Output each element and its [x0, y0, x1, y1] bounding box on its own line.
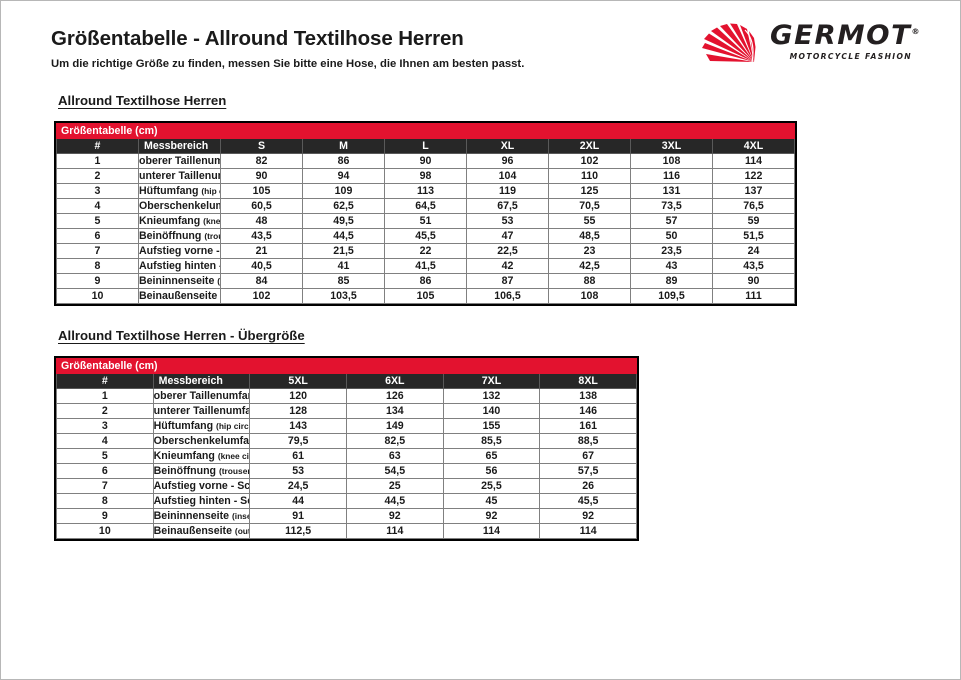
cell-7xl: 65: [443, 449, 540, 464]
cell-l: 98: [385, 169, 467, 184]
cell-6xl: 63: [346, 449, 443, 464]
cell-7xl: 114: [443, 524, 540, 539]
cell-3xl: 89: [631, 274, 713, 289]
section-heading-oversize: Allround Textilhose Herren - Übergröße: [58, 328, 305, 343]
row-measurement-label: unterer Taillenumfang (lower waist circu…: [139, 169, 221, 184]
measurement-label-de: Aufstieg vorne - Schritt zum Bund: [154, 480, 250, 492]
row-number: 4: [57, 199, 139, 214]
row-number: 7: [57, 479, 154, 494]
table-row: 10Beinaußenseite (outseam)102103,5105106…: [57, 289, 795, 304]
cell-4xl: 43,5: [713, 259, 795, 274]
row-number: 7: [57, 244, 139, 259]
table-row: 9Beininnenseite (inseam)84858687888990: [57, 274, 795, 289]
cell-s: 40,5: [221, 259, 303, 274]
measurement-label-de: Knieumfang: [154, 450, 218, 462]
column-header-size-s: S: [221, 139, 303, 154]
cell-xl: 42: [467, 259, 549, 274]
table-header-row: #Messbereich5XL6XL7XL8XL: [57, 374, 637, 389]
table-row: 8Aufstieg hinten - Schritt zum Bund (fro…: [57, 259, 795, 274]
cell-2xl: 23: [549, 244, 631, 259]
cell-xl: 87: [467, 274, 549, 289]
row-number: 2: [57, 169, 139, 184]
table-row: 1oberer Taillenumfang (upper waist circu…: [57, 154, 795, 169]
table-row: 4Oberschenkelumfang (tight circumference…: [57, 434, 637, 449]
section-heading-standard: Allround Textilhose Herren: [58, 93, 226, 108]
cell-8xl: 161: [540, 419, 637, 434]
cell-l: 45,5: [385, 229, 467, 244]
cell-8xl: 26: [540, 479, 637, 494]
cell-2xl: 125: [549, 184, 631, 199]
cell-l: 90: [385, 154, 467, 169]
cell-5xl: 44: [250, 494, 347, 509]
cell-xl: 22,5: [467, 244, 549, 259]
cell-l: 86: [385, 274, 467, 289]
row-number: 6: [57, 464, 154, 479]
cell-2xl: 42,5: [549, 259, 631, 274]
row-measurement-label: Oberschenkelumfang (tight circumference): [153, 434, 250, 449]
cell-5xl: 128: [250, 404, 347, 419]
column-header-size-xl: XL: [467, 139, 549, 154]
column-header-size-7xl: 7XL: [443, 374, 540, 389]
cell-4xl: 114: [713, 154, 795, 169]
cell-3xl: 73,5: [631, 199, 713, 214]
cell-3xl: 116: [631, 169, 713, 184]
measurement-label-de: Hüftumfang: [139, 185, 201, 197]
cell-s: 21: [221, 244, 303, 259]
cell-3xl: 131: [631, 184, 713, 199]
measurement-label-de: Oberschenkelumfang: [139, 200, 221, 212]
cell-3xl: 108: [631, 154, 713, 169]
cell-4xl: 76,5: [713, 199, 795, 214]
cell-6xl: 134: [346, 404, 443, 419]
cell-6xl: 149: [346, 419, 443, 434]
cell-l: 105: [385, 289, 467, 304]
table-row: 4Oberschenkelumfang (tight circumference…: [57, 199, 795, 214]
column-header-size-2xl: 2XL: [549, 139, 631, 154]
measurement-label-en: (hip circumference): [216, 421, 250, 431]
cell-m: 86: [303, 154, 385, 169]
measurement-label-de: Oberschenkelumfang: [154, 435, 250, 447]
table-row: 6Beinöffnung (trouser cuff)43,544,545,54…: [57, 229, 795, 244]
cell-2xl: 55: [549, 214, 631, 229]
table-oversize-body: Größentabelle (cm)#Messbereich5XL6XL7XL8…: [57, 359, 637, 539]
row-number: 4: [57, 434, 154, 449]
row-number: 5: [57, 449, 154, 464]
cell-2xl: 110: [549, 169, 631, 184]
cell-s: 84: [221, 274, 303, 289]
cell-8xl: 67: [540, 449, 637, 464]
column-header-size-5xl: 5XL: [250, 374, 347, 389]
cell-4xl: 111: [713, 289, 795, 304]
column-header-size-l: L: [385, 139, 467, 154]
cell-m: 109: [303, 184, 385, 199]
cell-3xl: 109,5: [631, 289, 713, 304]
cell-4xl: 51,5: [713, 229, 795, 244]
cell-2xl: 70,5: [549, 199, 631, 214]
row-measurement-label: Beinöffnung (trouser cuff): [153, 464, 250, 479]
cell-2xl: 102: [549, 154, 631, 169]
cell-s: 102: [221, 289, 303, 304]
cell-xl: 119: [467, 184, 549, 199]
table-banner-label: Größentabelle (cm): [57, 359, 637, 374]
size-chart-page: Größentabelle - Allround Textilhose Herr…: [0, 0, 961, 680]
cell-4xl: 90: [713, 274, 795, 289]
row-number: 8: [57, 494, 154, 509]
cell-4xl: 137: [713, 184, 795, 199]
germot-fan-icon: [698, 21, 766, 67]
row-number: 9: [57, 274, 139, 289]
row-measurement-label: Knieumfang (knee circumference): [139, 214, 221, 229]
measurement-label-de: Hüftumfang: [154, 420, 216, 432]
measurement-label-en: (trouser cuff): [219, 466, 250, 476]
measurement-label-de: oberer Taillenumfang: [154, 390, 250, 402]
row-measurement-label: oberer Taillenumfang (upper waist circum…: [153, 389, 250, 404]
measurement-label-de: Aufstieg hinten - Schritt zum Bund: [154, 495, 250, 507]
cell-s: 105: [221, 184, 303, 199]
measurement-label-de: Beinöffnung: [139, 230, 204, 242]
cell-4xl: 59: [713, 214, 795, 229]
measurement-label-de: Aufstieg hinten - Schritt zum Bund: [139, 260, 221, 272]
cell-7xl: 155: [443, 419, 540, 434]
cell-4xl: 24: [713, 244, 795, 259]
row-measurement-label: Beinaußenseite (outseam): [153, 524, 250, 539]
cell-xl: 104: [467, 169, 549, 184]
measurement-label-de: Beininnenseite: [154, 510, 232, 522]
cell-8xl: 138: [540, 389, 637, 404]
table-banner-label: Größentabelle (cm): [57, 124, 795, 139]
cell-l: 41,5: [385, 259, 467, 274]
cell-l: 51: [385, 214, 467, 229]
cell-8xl: 92: [540, 509, 637, 524]
cell-m: 21,5: [303, 244, 385, 259]
brand-name: GERMOT®: [770, 22, 921, 49]
table-row: 8Aufstieg hinten - Schritt zum Bund (fro…: [57, 494, 637, 509]
brand-tagline: MOTORCYCLE FASHION: [770, 52, 918, 61]
cell-m: 103,5: [303, 289, 385, 304]
table-row: 1oberer Taillenumfang (upper waist circu…: [57, 389, 637, 404]
cell-6xl: 44,5: [346, 494, 443, 509]
row-measurement-label: Beinöffnung (trouser cuff): [139, 229, 221, 244]
size-table-oversize-grid: Größentabelle (cm)#Messbereich5XL6XL7XL8…: [56, 358, 637, 539]
germot-logo: GERMOT® MOTORCYCLE FASHION: [696, 19, 918, 71]
cell-8xl: 146: [540, 404, 637, 419]
table-banner-row: Größentabelle (cm): [57, 359, 637, 374]
table-standard-body: Größentabelle (cm)#MessbereichSMLXL2XL3X…: [57, 124, 795, 304]
measurement-label-en: (outseam): [235, 526, 250, 536]
cell-5xl: 112,5: [250, 524, 347, 539]
row-measurement-label: oberer Taillenumfang (upper waist circum…: [139, 154, 221, 169]
cell-l: 64,5: [385, 199, 467, 214]
measurement-label-de: Beinöffnung: [154, 465, 219, 477]
row-number: 1: [57, 389, 154, 404]
cell-4xl: 122: [713, 169, 795, 184]
row-number: 1: [57, 154, 139, 169]
measurement-label-de: oberer Taillenumfang: [139, 155, 221, 167]
measurement-label-en: (hip circumference): [201, 186, 220, 196]
row-number: 10: [57, 524, 154, 539]
cell-s: 48: [221, 214, 303, 229]
measurement-label-de: Aufstieg vorne - Schritt zum Bund: [139, 245, 221, 257]
table-row: 7Aufstieg vorne - Schritt zum Bund (fron…: [57, 244, 795, 259]
cell-xl: 96: [467, 154, 549, 169]
cell-8xl: 88,5: [540, 434, 637, 449]
table-row: 3Hüftumfang (hip circumference)105109113…: [57, 184, 795, 199]
cell-5xl: 53: [250, 464, 347, 479]
measurement-label-de: unterer Taillenumfang: [139, 170, 221, 182]
cell-3xl: 23,5: [631, 244, 713, 259]
cell-3xl: 50: [631, 229, 713, 244]
cell-8xl: 57,5: [540, 464, 637, 479]
table-row: 2unterer Taillenumfang (lower waist circ…: [57, 404, 637, 419]
row-measurement-label: Hüftumfang (hip circumference): [153, 419, 250, 434]
row-measurement-label: Beinaußenseite (outseam): [139, 289, 221, 304]
column-header-number: #: [57, 374, 154, 389]
table-row: 10Beinaußenseite (outseam)112,5114114114: [57, 524, 637, 539]
column-header-size-m: M: [303, 139, 385, 154]
row-measurement-label: Aufstieg hinten - Schritt zum Bund (fron…: [139, 259, 221, 274]
cell-7xl: 140: [443, 404, 540, 419]
cell-7xl: 92: [443, 509, 540, 524]
measurement-label-en: (trouser cuff): [204, 231, 220, 241]
row-number: 5: [57, 214, 139, 229]
cell-2xl: 48,5: [549, 229, 631, 244]
cell-6xl: 114: [346, 524, 443, 539]
measurement-label-de: Beininnenseite: [139, 275, 217, 287]
row-number: 3: [57, 419, 154, 434]
row-number: 6: [57, 229, 139, 244]
size-table-standard: Größentabelle (cm)#MessbereichSMLXL2XL3X…: [54, 121, 797, 306]
cell-6xl: 82,5: [346, 434, 443, 449]
cell-5xl: 143: [250, 419, 347, 434]
cell-5xl: 120: [250, 389, 347, 404]
cell-7xl: 85,5: [443, 434, 540, 449]
cell-2xl: 108: [549, 289, 631, 304]
cell-7xl: 45: [443, 494, 540, 509]
column-header-measurement: Messbereich: [139, 139, 221, 154]
cell-s: 82: [221, 154, 303, 169]
cell-m: 94: [303, 169, 385, 184]
cell-3xl: 57: [631, 214, 713, 229]
row-number: 8: [57, 259, 139, 274]
cell-5xl: 61: [250, 449, 347, 464]
column-header-number: #: [57, 139, 139, 154]
cell-l: 113: [385, 184, 467, 199]
cell-5xl: 24,5: [250, 479, 347, 494]
measurement-label-en: (knee circumference): [218, 451, 250, 461]
measurement-label-de: Beinaußenseite: [154, 525, 235, 537]
cell-5xl: 91: [250, 509, 347, 524]
row-number: 10: [57, 289, 139, 304]
row-measurement-label: Oberschenkelumfang (tight circumference): [139, 199, 221, 214]
cell-m: 85: [303, 274, 385, 289]
cell-8xl: 114: [540, 524, 637, 539]
row-measurement-label: Aufstieg vorne - Schritt zum Bund (front…: [153, 479, 250, 494]
measurement-label-en: (inseam): [232, 511, 250, 521]
row-measurement-label: Knieumfang (knee circumference): [153, 449, 250, 464]
size-table-oversize: Größentabelle (cm)#Messbereich5XL6XL7XL8…: [54, 356, 639, 541]
cell-m: 49,5: [303, 214, 385, 229]
table-row: 5Knieumfang (knee circumference)61636567: [57, 449, 637, 464]
row-measurement-label: Beininnenseite (inseam): [139, 274, 221, 289]
column-header-size-3xl: 3XL: [631, 139, 713, 154]
cell-xl: 53: [467, 214, 549, 229]
row-number: 2: [57, 404, 154, 419]
row-measurement-label: Aufstieg hinten - Schritt zum Bund (fron…: [153, 494, 250, 509]
cell-8xl: 45,5: [540, 494, 637, 509]
row-measurement-label: Hüftumfang (hip circumference): [139, 184, 221, 199]
cell-s: 60,5: [221, 199, 303, 214]
table-row: 7Aufstieg vorne - Schritt zum Bund (fron…: [57, 479, 637, 494]
column-header-size-4xl: 4XL: [713, 139, 795, 154]
column-header-size-6xl: 6XL: [346, 374, 443, 389]
column-header-measurement: Messbereich: [153, 374, 250, 389]
cell-7xl: 25,5: [443, 479, 540, 494]
row-number: 9: [57, 509, 154, 524]
cell-xl: 67,5: [467, 199, 549, 214]
cell-3xl: 43: [631, 259, 713, 274]
measurement-label-de: unterer Taillenumfang: [154, 405, 250, 417]
table-banner-row: Größentabelle (cm): [57, 124, 795, 139]
row-measurement-label: Beininnenseite (inseam): [153, 509, 250, 524]
table-header-row: #MessbereichSMLXL2XL3XL4XL: [57, 139, 795, 154]
table-row: 2unterer Taillenumfang (lower waist circ…: [57, 169, 795, 184]
measurement-label-de: Knieumfang: [139, 215, 203, 227]
size-table-standard-grid: Größentabelle (cm)#MessbereichSMLXL2XL3X…: [56, 123, 795, 304]
registered-mark: ®: [911, 27, 919, 36]
cell-6xl: 92: [346, 509, 443, 524]
germot-wordmark: GERMOT® MOTORCYCLE FASHION: [770, 22, 918, 61]
cell-6xl: 25: [346, 479, 443, 494]
cell-xl: 106,5: [467, 289, 549, 304]
table-row: 6Beinöffnung (trouser cuff)5354,55657,5: [57, 464, 637, 479]
cell-7xl: 132: [443, 389, 540, 404]
row-measurement-label: Aufstieg vorne - Schritt zum Bund (front…: [139, 244, 221, 259]
table-row: 5Knieumfang (knee circumference)4849,551…: [57, 214, 795, 229]
row-measurement-label: unterer Taillenumfang (lower waist circu…: [153, 404, 250, 419]
cell-m: 44,5: [303, 229, 385, 244]
cell-m: 41: [303, 259, 385, 274]
table-row: 3Hüftumfang (hip circumference)143149155…: [57, 419, 637, 434]
measurement-label-de: Beinaußenseite: [139, 290, 220, 302]
cell-2xl: 88: [549, 274, 631, 289]
cell-l: 22: [385, 244, 467, 259]
measurement-label-en: (knee circumference): [203, 216, 220, 226]
cell-m: 62,5: [303, 199, 385, 214]
row-number: 3: [57, 184, 139, 199]
table-row: 9Beininnenseite (inseam)91929292: [57, 509, 637, 524]
cell-7xl: 56: [443, 464, 540, 479]
cell-s: 43,5: [221, 229, 303, 244]
cell-s: 90: [221, 169, 303, 184]
cell-6xl: 126: [346, 389, 443, 404]
cell-xl: 47: [467, 229, 549, 244]
cell-6xl: 54,5: [346, 464, 443, 479]
cell-5xl: 79,5: [250, 434, 347, 449]
column-header-size-8xl: 8XL: [540, 374, 637, 389]
